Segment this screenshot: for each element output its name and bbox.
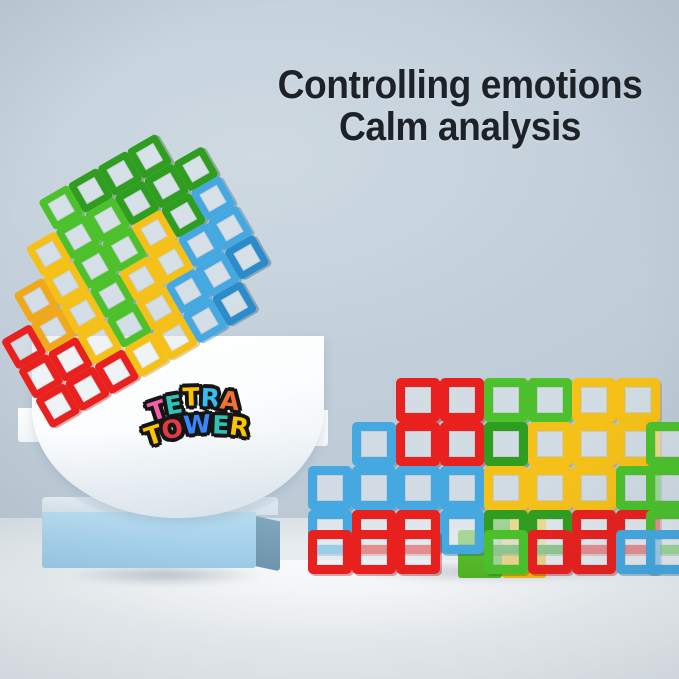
block-cell [396,378,440,422]
block-cell [440,466,484,510]
block-cell [572,530,616,574]
product-photo-scene: Controlling emotions Calm analysis TETRA… [0,0,679,679]
block-cell [528,422,572,466]
block-wall [294,378,679,578]
block-cell [396,530,440,574]
block-cell [352,422,396,466]
block-cell [352,466,396,510]
block-cell [396,466,440,510]
logo-letter: T [182,382,201,412]
logo-letter: R [228,411,252,443]
block-cell [572,466,616,510]
block-cell [646,466,679,510]
block-cell [484,422,528,466]
headline-line-1: Controlling emotions [265,66,656,104]
block-cell [440,510,484,554]
block-cell [484,378,528,422]
block-cell [308,530,352,574]
block-cell [528,378,572,422]
block-cell [528,466,572,510]
base-front-face [42,512,256,568]
headline: Controlling emotions Calm analysis [250,66,670,147]
block-cell [440,422,484,466]
block-cell [646,530,679,574]
headline-line-2: Calm analysis [265,108,656,146]
block-cell [352,530,396,574]
block-cell [572,378,616,422]
block-cell [484,530,528,574]
logo-letter: W [183,409,214,440]
block-cell [646,422,679,466]
block-cell [308,466,352,510]
block-cell [572,422,616,466]
block-cell [616,378,660,422]
block-cell [396,422,440,466]
block-cell [484,466,528,510]
block-cell [528,530,572,574]
block-cell [440,378,484,422]
